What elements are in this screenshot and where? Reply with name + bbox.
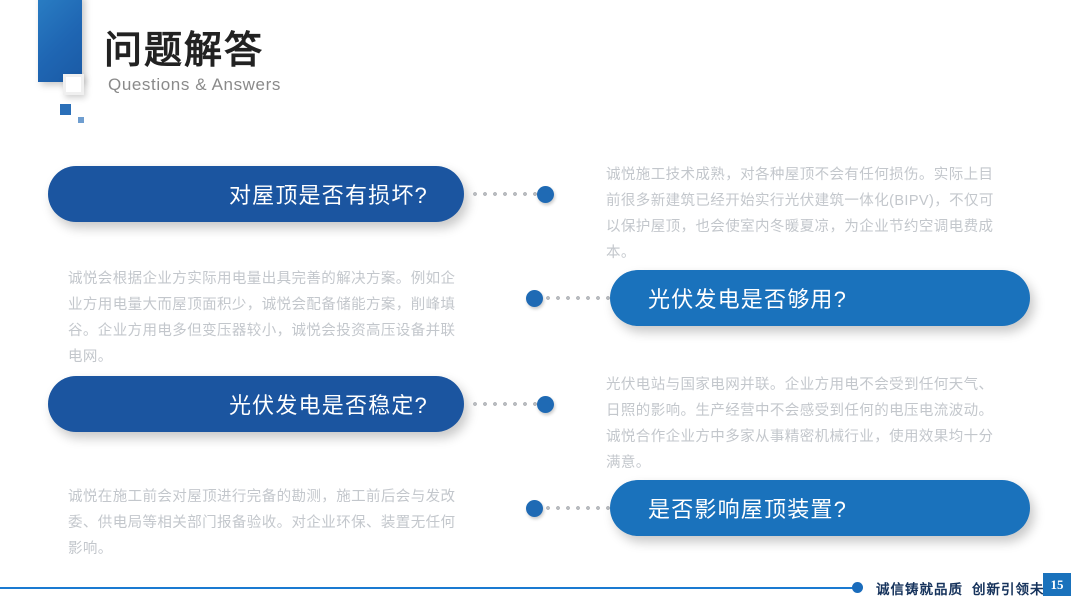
slide-header: 问题解答 Questions & Answers xyxy=(0,0,1080,140)
footer-divider xyxy=(0,587,856,589)
qa-question-4-label: 是否影响屋顶装置? xyxy=(648,492,847,524)
qa-question-2[interactable]: 光伏发电是否够用? xyxy=(610,270,1030,326)
qa-question-3-label: 光伏发电是否稳定? xyxy=(229,388,428,420)
qa-answer-4: 诚悦在施工前会对屋顶进行完备的勘测，施工前后会与发改委、供电局等相关部门报备验收… xyxy=(68,484,466,562)
connector-endpoint-dot xyxy=(537,186,554,203)
page-title-group: 问题解答 Questions & Answers xyxy=(104,30,281,95)
qa-question-1[interactable]: 对屋顶是否有损坏? xyxy=(48,166,464,222)
qa-row-3: 光伏发电是否稳定? 光伏电站与国家电网并联。企业方用电不会受到任何天气、日照的影… xyxy=(0,376,1080,466)
page-title: 问题解答 xyxy=(104,30,281,73)
decorative-square-medium xyxy=(60,104,71,115)
connector-endpoint-dot xyxy=(526,500,543,517)
qa-answer-1: 诚悦施工技术成熟，对各种屋顶不会有任何损伤。实际上目前很多新建筑已经开始实行光伏… xyxy=(606,162,1004,266)
qa-row-1: 对屋顶是否有损坏? 诚悦施工技术成熟，对各种屋顶不会有任何损伤。实际上目前很多新… xyxy=(0,166,1080,256)
footer-dot-icon xyxy=(852,582,863,593)
qa-connector-4 xyxy=(526,498,610,518)
dotted-line-icon xyxy=(543,506,610,510)
decorative-square-outline xyxy=(63,74,84,95)
qa-question-2-label: 光伏发电是否够用? xyxy=(648,282,847,314)
qa-question-1-label: 对屋顶是否有损坏? xyxy=(229,178,428,210)
dotted-line-icon xyxy=(470,192,537,196)
qa-answer-3: 光伏电站与国家电网并联。企业方用电不会受到任何天气、日照的影响。生产经营中不会感… xyxy=(606,372,1004,476)
footer-slogan: 诚信铸就品质创新引领未来 xyxy=(876,578,1059,598)
qa-row-2: 诚悦会根据企业方实际用电量出具完善的解决方案。例如企业方用电量大而屋顶面积少，诚… xyxy=(0,270,1080,360)
qa-question-4[interactable]: 是否影响屋顶装置? xyxy=(610,480,1030,536)
decorative-blue-bar xyxy=(38,0,82,82)
connector-endpoint-dot xyxy=(537,396,554,413)
qa-connector-1 xyxy=(470,184,554,204)
qa-row-4: 诚悦在施工前会对屋顶进行完备的勘测，施工前后会与发改委、供电局等相关部门报备验收… xyxy=(0,480,1080,570)
page-subtitle: Questions & Answers xyxy=(108,75,281,95)
qa-connector-2 xyxy=(526,288,610,308)
qa-question-3[interactable]: 光伏发电是否稳定? xyxy=(48,376,464,432)
footer-slogan-part1: 诚信铸就品质 xyxy=(876,582,963,597)
page-number-badge: 15 xyxy=(1043,573,1071,596)
qa-answer-2: 诚悦会根据企业方实际用电量出具完善的解决方案。例如企业方用电量大而屋顶面积少，诚… xyxy=(68,266,466,370)
dotted-line-icon xyxy=(543,296,610,300)
connector-endpoint-dot xyxy=(526,290,543,307)
dotted-line-icon xyxy=(470,402,537,406)
decorative-square-small xyxy=(78,117,84,123)
qa-connector-3 xyxy=(470,394,554,414)
